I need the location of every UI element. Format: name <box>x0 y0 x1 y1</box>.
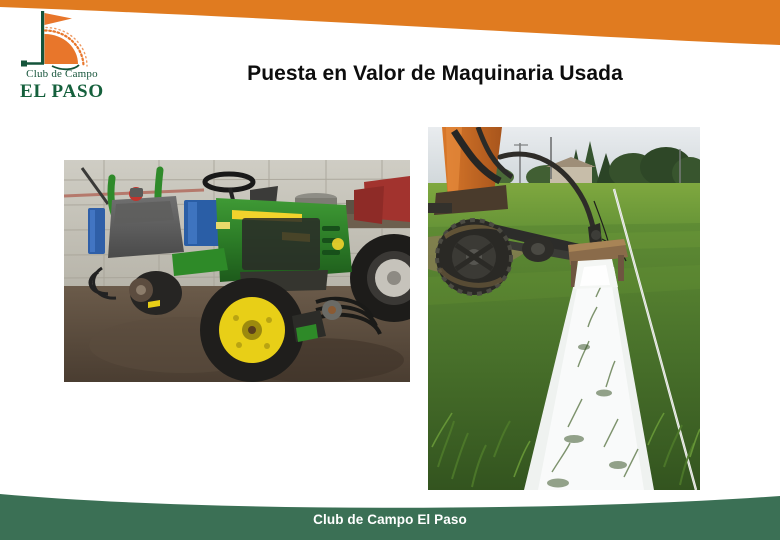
top-orange-band <box>0 0 780 50</box>
logo: Club de Campo EL PASO <box>8 8 116 106</box>
photo-right-line-marker <box>428 127 700 490</box>
photo-left-tractor <box>64 160 410 382</box>
logo-line-1: Club de Campo <box>8 68 116 80</box>
footer-label: Club de Campo El Paso <box>0 512 780 527</box>
slide-title: Puesta en Valor de Maquinaria Usada <box>130 62 740 86</box>
slide-canvas: Club de Campo EL PASO Puesta en Valor de… <box>0 0 780 540</box>
golf-flag-icon <box>8 8 116 74</box>
photo-right-graphic <box>428 127 700 490</box>
logo-mark-shape <box>8 8 116 74</box>
logo-line-2: EL PASO <box>8 81 116 103</box>
top-band-shape <box>0 0 780 50</box>
photo-left-graphic <box>64 160 410 382</box>
